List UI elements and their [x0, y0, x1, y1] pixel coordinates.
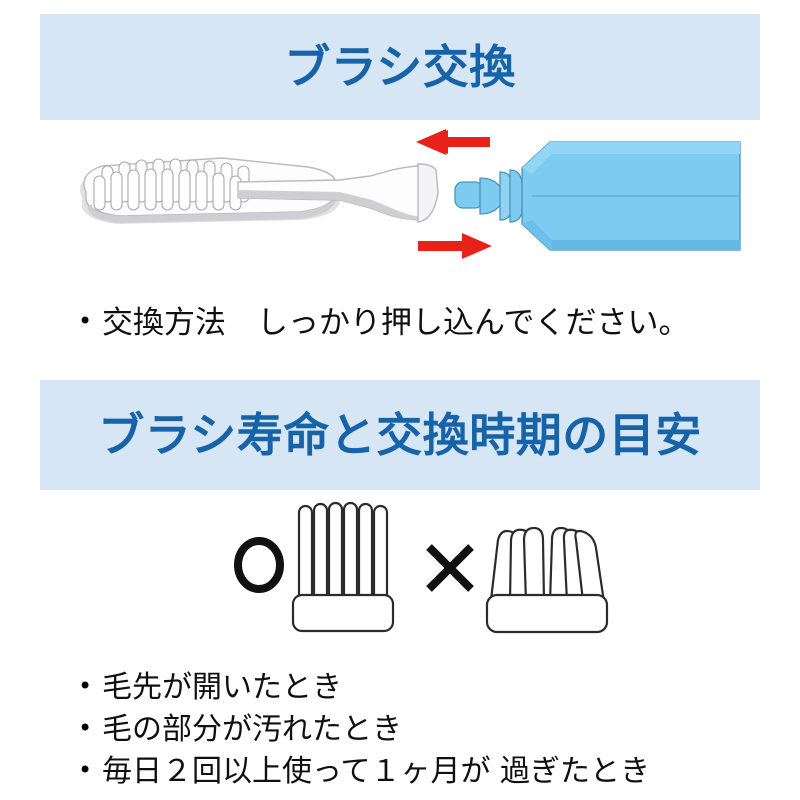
arrow-right-icon [418, 233, 492, 259]
circle-mark-icon [238, 541, 280, 589]
toothbrush-head [80, 158, 438, 224]
section-title-brush-replacement: ブラシ交換 [40, 44, 760, 90]
section-header-brush-replacement: ブラシ交換 [40, 14, 760, 120]
brush-head-and-handle-diagram [40, 120, 760, 290]
brush-replacement-svg [40, 120, 760, 290]
arrow-left-icon [416, 129, 490, 155]
bristle-comparison-svg [40, 490, 760, 650]
list-item: 毎日２回以上使って１ヶ月が 過ぎたとき [72, 752, 650, 792]
blue-handle-body [455, 142, 740, 250]
cross-mark-icon [429, 547, 471, 589]
handle-connector-post [455, 170, 522, 222]
list-item: 交換方法 しっかり押し込んでください。 [72, 303, 689, 344]
splayed-bristle-tuft [487, 528, 607, 632]
section-title-brush-life: ブラシ寿命と交換時期の目安 [40, 412, 760, 458]
bristle-condition-comparison [40, 490, 760, 650]
instruction-page: ブラシ交換 [0, 0, 800, 800]
bullet-list-replacement-method: 交換方法 しっかり押し込んでください。 [72, 303, 689, 344]
list-item: 毛の部分が汚れたとき [72, 710, 650, 750]
list-item: 毛先が開いたとき [72, 668, 650, 708]
section-header-brush-life: ブラシ寿命と交換時期の目安 [40, 380, 760, 490]
straight-bristle-tuft [293, 503, 393, 631]
bullet-list-replacement-signs: 毛先が開いたとき 毛の部分が汚れたとき 毎日２回以上使って１ヶ月が 過ぎたとき [72, 668, 650, 794]
